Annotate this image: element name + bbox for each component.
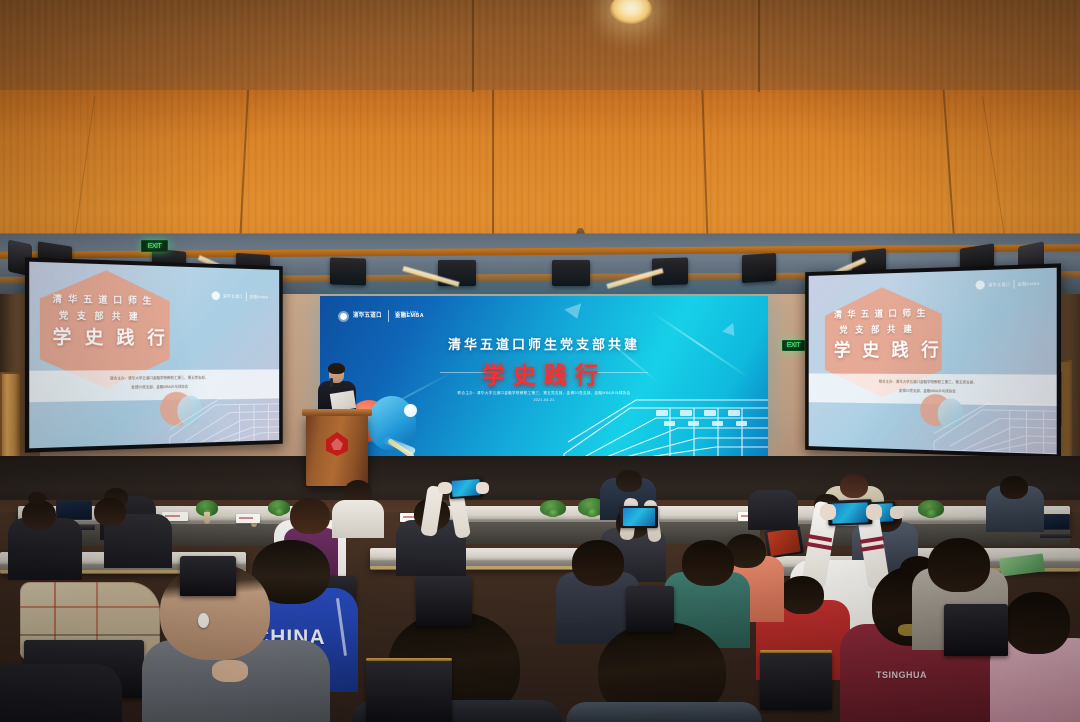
side-headline: 学 史 践 行 (834, 336, 943, 362)
exit-icon: EXIT (148, 243, 162, 250)
side-logo-right: 清华五道口 金融EMBA (976, 279, 1040, 290)
triangle-accent (564, 303, 585, 321)
audience-chair[interactable] (760, 652, 832, 710)
podium-lectern (306, 414, 368, 486)
desk-plant (268, 500, 290, 515)
audience-head (840, 474, 868, 498)
desk-plant (540, 500, 566, 516)
pingpong-ball-white (404, 404, 417, 417)
exit-sign-right: EXIT (782, 340, 805, 351)
plaid-stripe (20, 606, 160, 608)
audience-torso (748, 490, 798, 530)
audience-chair[interactable] (944, 604, 1008, 656)
audience-head (928, 538, 990, 592)
tsinghua-seal-icon (338, 311, 349, 322)
exit-sign-left: EXIT (141, 240, 168, 252)
side-screen-right: 清 华 五 道 口 师 生 党 支 部 共 建 学 史 践 行 清华五道口 金融… (805, 263, 1061, 458)
led-logo-institution-cn: 清华五道口 (353, 314, 382, 320)
side-logo-institution: 清华五道口 (988, 281, 1010, 288)
audience-torso-foreground (566, 702, 762, 722)
smartphone-recording[interactable] (620, 506, 658, 528)
chair-rim (760, 650, 832, 653)
hair-bun (28, 492, 46, 505)
audience-head (1004, 592, 1070, 654)
audience-chair[interactable] (366, 660, 452, 722)
audience-head (780, 576, 824, 614)
line-array-speaker-icon (552, 260, 590, 286)
led-title-line: 清华五道口师生党支部共建 (320, 334, 768, 353)
main-led-screen: TSINGHUA PBCSF 清华五道口 FINANCE EMBA 金融EMBA… (320, 296, 768, 456)
audience-chair[interactable] (416, 576, 472, 626)
exit-icon: EXIT (787, 342, 801, 349)
side-title-line2: 党 支 部 共 建 (839, 322, 914, 336)
chair-rim (366, 658, 452, 661)
plaid-stripe (20, 634, 160, 636)
side-title-line1: 清 华 五 道 口 师 生 (53, 292, 153, 307)
ceiling-seam (472, 0, 474, 92)
hand (820, 504, 836, 520)
place-nameplate (236, 514, 260, 523)
line-array-speaker-icon (742, 253, 776, 283)
building-line-art (560, 374, 768, 456)
line-array-speaker-icon (330, 257, 366, 285)
hand (476, 482, 489, 494)
side-headline: 学 史 践 行 (53, 323, 169, 350)
side-title-line1: 清 华 五 道 口 师 生 (834, 306, 927, 320)
desk-plant (918, 500, 944, 517)
led-logo-program-cn: 金融EMBA (395, 314, 424, 320)
side-logo-left: 清华五道口 金融EMBA (212, 291, 269, 301)
audience-torso (332, 500, 384, 538)
podium-top-surface (302, 409, 372, 416)
earbud-icon (198, 613, 209, 628)
auditorium-photo: EXIT EXIT 清 华 五 道 口 师 生 党 支 部 共 建 学 史 践 … (0, 0, 1080, 722)
paper-cup (204, 512, 210, 524)
tsinghua-seal-icon (976, 280, 985, 289)
audience-chair[interactable] (626, 586, 674, 632)
side-logo-program: 金融EMBA (249, 294, 268, 300)
hand (212, 660, 248, 682)
laptop-open[interactable] (1042, 514, 1070, 538)
hand (890, 506, 904, 519)
tsinghua-crest-icon (326, 432, 348, 456)
audience-head (616, 470, 642, 492)
ceiling-seam (758, 0, 760, 92)
microphone-icon (330, 378, 333, 387)
hand (438, 482, 452, 494)
audience-head (290, 498, 330, 534)
audience-head (1000, 476, 1028, 499)
speaker-hair (328, 363, 345, 374)
tsinghua-seal-icon (212, 291, 220, 300)
tablet-device[interactable] (764, 525, 804, 558)
led-logo-lockup: TSINGHUA PBCSF 清华五道口 FINANCE EMBA 金融EMBA (338, 310, 424, 322)
side-screen-left: 清 华 五 道 口 师 生 党 支 部 共 建 学 史 践 行 清华五道口 金融… (25, 257, 283, 452)
building-line-art (164, 375, 279, 448)
audience-chair[interactable] (180, 556, 236, 596)
hand (866, 504, 882, 520)
audience-head (572, 540, 624, 586)
building-line-art (928, 378, 1057, 454)
side-logo-institution: 清华五道口 (223, 293, 243, 299)
side-logo-program: 金融EMBA (1018, 280, 1040, 287)
ceiling-panel-upper (0, 0, 1080, 92)
audience-torso-foreground (0, 664, 122, 722)
audience-head (682, 540, 734, 586)
side-title-line2: 党 支 部 共 建 (59, 308, 141, 322)
jacket-label-tsinghua: TSINGHUA (876, 670, 927, 680)
audience-head (94, 498, 126, 526)
